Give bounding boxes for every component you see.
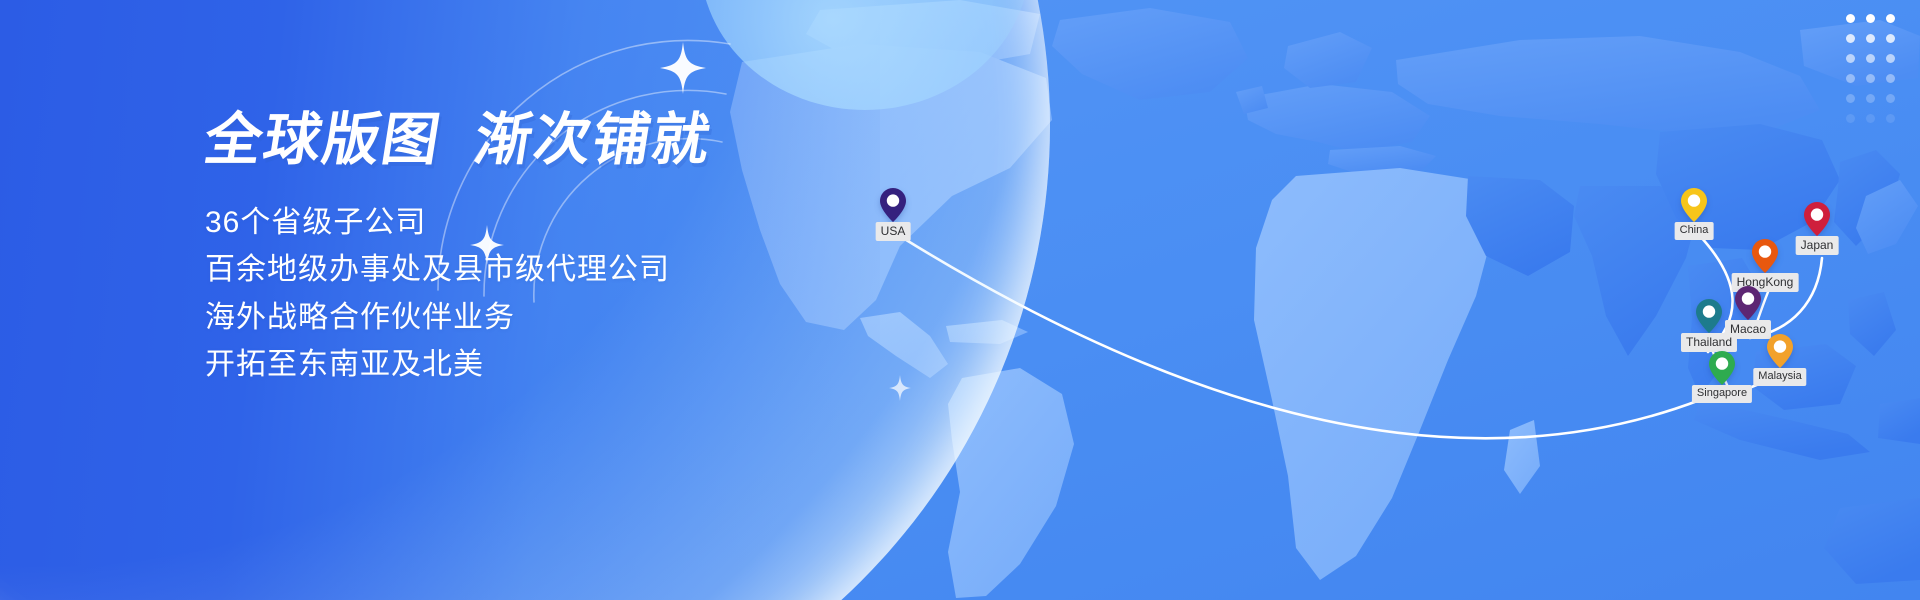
map-pin-icon [1804,202,1830,236]
banner-subline: 36个省级子公司 [205,199,965,246]
map-pin-icon [1735,286,1761,320]
map-marker-label: Japan [1796,236,1839,255]
map-pin-icon [1696,299,1722,333]
map-marker-label: USA [876,222,911,241]
headline-part-2: 渐次铺就 [470,108,716,172]
grid-dot [1886,54,1895,63]
map-marker-macao[interactable]: Macao [1735,286,1761,320]
map-marker-japan[interactable]: Japan [1804,202,1830,236]
map-marker-hongkong[interactable]: HongKong [1752,239,1778,273]
grid-dot [1866,114,1875,123]
grid-dot [1866,94,1875,103]
grid-dot [1866,74,1875,83]
grid-dot [1866,54,1875,63]
map-marker-label: China [1675,222,1714,240]
grid-dot [1846,94,1855,103]
grid-dot [1886,94,1895,103]
grid-dot [1886,34,1895,43]
map-marker-china[interactable]: China [1681,188,1707,222]
grid-dot [1846,114,1855,123]
map-pin-icon [1709,351,1735,385]
landmass-new-guinea [1878,398,1920,444]
global-footprint-banner: 全球版图渐次铺就 36个省级子公司 百余地级办事处及县市级代理公司 海外战略合作… [0,0,1920,600]
grid-dot [1866,34,1875,43]
map-pin-icon [1681,188,1707,222]
map-marker-singapore[interactable]: Singapore [1709,351,1735,385]
grid-dot [1846,14,1855,23]
grid-dot [1846,54,1855,63]
map-marker-label: Singapore [1692,385,1752,403]
banner-headline: 全球版图渐次铺就 [200,112,969,169]
grid-dot [1886,114,1895,123]
headline-part-1: 全球版图 [200,108,446,172]
map-marker-malaysia[interactable]: Malaysia [1767,334,1793,368]
map-marker-label: Thailand [1681,333,1737,352]
grid-dot [1846,34,1855,43]
banner-subline-list: 36个省级子公司 百余地级办事处及县市级代理公司 海外战略合作伙伴业务 开拓至东… [205,199,965,389]
banner-subline: 海外战略合作伙伴业务 [205,294,965,341]
map-marker-label: Malaysia [1753,368,1806,386]
map-marker-usa[interactable]: USA [880,188,906,222]
grid-dot [1866,14,1875,23]
grid-dot [1886,74,1895,83]
decorative-dot-grid [1842,10,1898,126]
grid-dot [1886,14,1895,23]
banner-subline: 百余地级办事处及县市级代理公司 [205,246,965,293]
map-pin-icon [880,188,906,222]
map-pin-icon [1752,239,1778,273]
map-pin-icon [1767,334,1793,368]
map-marker-thailand[interactable]: Thailand [1696,299,1722,333]
banner-subline: 开拓至东南亚及北美 [205,341,965,388]
banner-copy: 全球版图渐次铺就 36个省级子公司 百余地级办事处及县市级代理公司 海外战略合作… [205,112,965,389]
grid-dot [1846,74,1855,83]
